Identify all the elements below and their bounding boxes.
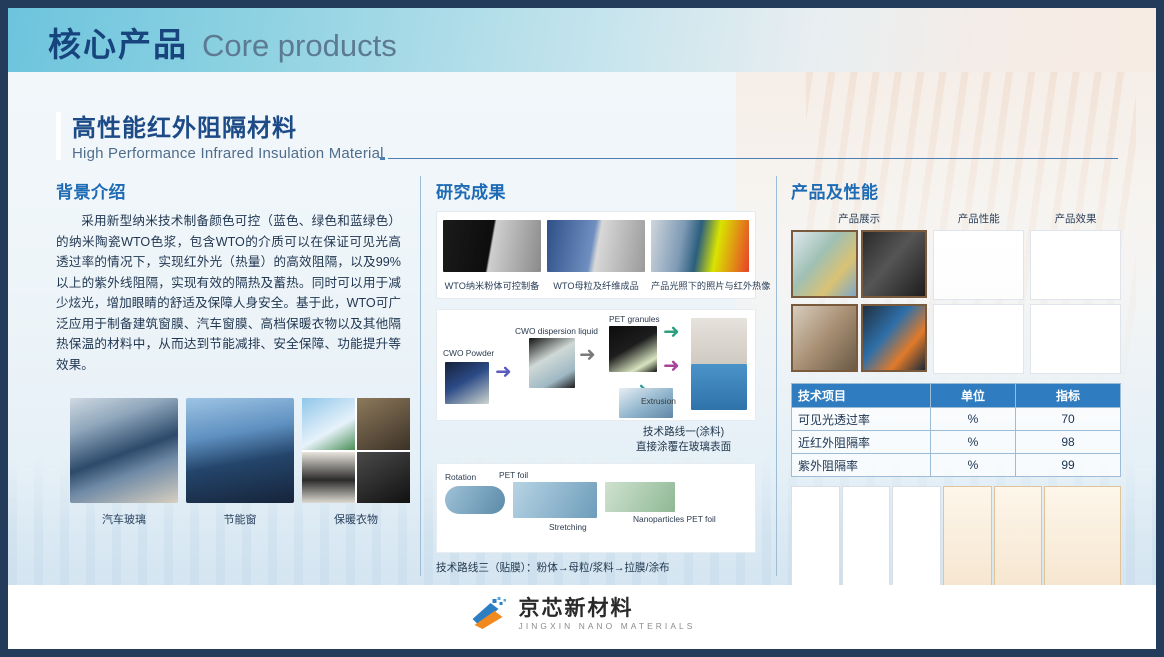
th-item: 技术项目: [792, 384, 931, 408]
table-row: 紫外阻隔率 % 99: [792, 454, 1121, 477]
product-sublabels: 产品展示 产品性能 产品效果: [791, 211, 1121, 226]
section-title-en: High Performance Infrared Insulation Mat…: [72, 145, 384, 162]
cell-unit: %: [931, 454, 1016, 477]
route1-label: 技术路线一(涂料): [643, 426, 724, 438]
column-background: 背景介绍 采用新型纳米技术制备颜色可控（蓝色、绿色和蓝绿色）的纳米陶瓷WTO色浆…: [56, 178, 401, 375]
photo-caption: 节能窗: [186, 511, 294, 527]
effect-chart-1: [1030, 230, 1121, 300]
flow-label-pet: PET granules: [609, 314, 660, 324]
cell-item: 近红外阻隔率: [792, 431, 931, 454]
section-accent-bar: [56, 112, 61, 160]
vials-image: [691, 318, 747, 364]
flow-label-extrusion: Extrusion: [641, 396, 676, 406]
table-row: 近红外阻隔率 % 98: [792, 431, 1121, 454]
photo-item: 汽车玻璃: [70, 398, 178, 527]
slide: 核心产品 Core products 高性能红外阻隔材料 High Perfor…: [0, 0, 1164, 657]
cell-value: 98: [1016, 431, 1121, 454]
flow-label-pet-foil: PET foil: [499, 470, 528, 480]
photo-caption: 汽车玻璃: [70, 511, 178, 527]
car-glass-image: [70, 398, 178, 503]
photo-item: 节能窗: [186, 398, 294, 527]
header-title-cn: 核心产品: [48, 18, 188, 66]
research-item: WTO纳米粉体可控制备: [443, 220, 541, 292]
cwo-powder-image: [445, 362, 489, 404]
film-sheet-image: [605, 482, 675, 512]
fiber-samples-image: [861, 230, 928, 298]
cell-unit: %: [931, 408, 1016, 431]
dispersion-liquid-image: [529, 338, 575, 388]
logo-text-en: JINGXIN NANO MATERIALS: [519, 621, 696, 631]
cell-value: 99: [1016, 454, 1121, 477]
energy-window-image: [186, 398, 294, 503]
flow-label-dispersion: CWO dispersion liquid: [515, 326, 598, 336]
th-unit: 单位: [931, 384, 1016, 408]
background-paragraph: 采用新型纳米技术制备颜色可控（蓝色、绿色和蓝绿色）的纳米陶瓷WTO色浆，包含WT…: [56, 211, 401, 375]
roller-image: [445, 486, 505, 514]
arrow-right-icon: ➜: [663, 322, 680, 342]
photo-item: 保暖衣物: [302, 398, 410, 527]
column-divider-1: [420, 176, 421, 576]
clothing-quadrant: [357, 398, 410, 450]
product-title: 产品及性能: [791, 178, 1121, 203]
research-caption: WTO母粒及纤维成品: [547, 278, 645, 292]
application-photos: 汽车玻璃 节能窗 保暖衣物: [70, 398, 410, 527]
research-results-card: WTO纳米粉体可控制备 WTO母粒及纤维成品 产品光照下的照片与红外热像: [436, 211, 756, 299]
header-band: 核心产品 Core products: [8, 8, 1156, 72]
product-display-grid: [791, 230, 927, 374]
research-item: WTO母粒及纤维成品: [547, 220, 645, 292]
clothing-quadrant: [302, 398, 355, 450]
research-title: 研究成果: [436, 178, 756, 203]
arrow-right-icon: ➜: [579, 345, 596, 365]
sublabel-effect: 产品效果: [1030, 211, 1121, 226]
background-title: 背景介绍: [56, 178, 401, 203]
test-setup-image: [791, 304, 858, 372]
cell-value: 70: [1016, 408, 1121, 431]
arrow-right-icon: ➜: [663, 356, 680, 376]
infrared-thermal-image: [651, 220, 749, 272]
flow-label-nanoparticles: Nanoparticles PET foil: [633, 514, 716, 524]
route1-sublabel: 直接涂覆在玻璃表面: [636, 441, 731, 453]
performance-chart-1: [933, 230, 1024, 300]
research-caption: WTO纳米粉体可控制备: [443, 278, 541, 292]
warm-clothing-image: [302, 398, 410, 503]
company-logo: 京芯新材料 JINGXIN NANO MATERIALS: [469, 597, 696, 631]
logo-text-cn: 京芯新材料: [519, 597, 696, 621]
column-divider-2: [776, 176, 777, 576]
section-rule: [388, 158, 1118, 159]
effect-chart-2: [1030, 304, 1121, 374]
route3-label: 技术路线三（贴膜）：粉体→母粒/浆料→拉膜/涂布: [436, 560, 756, 575]
product-samples-image: [791, 230, 858, 298]
column-product: 产品及性能 产品展示 产品性能 产品效果: [791, 178, 1121, 606]
cell-item: 紫外阻隔率: [792, 454, 931, 477]
logo-text: 京芯新材料 JINGXIN NANO MATERIALS: [519, 597, 696, 631]
cell-item: 可见光透过率: [792, 408, 931, 431]
wto-masterbatch-image: [547, 220, 645, 272]
research-caption: 产品光照下的照片与红外热像: [651, 278, 749, 292]
table-header-row: 技术项目 单位 指标: [792, 384, 1121, 408]
spec-table: 技术项目 单位 指标 可见光透过率 % 70 近红外阻隔率 % 98 紫外阻隔率: [791, 383, 1121, 477]
glass-coating-image: [691, 364, 747, 410]
footer: 京芯新材料 JINGXIN NANO MATERIALS: [8, 585, 1156, 649]
jingxin-logo-icon: [469, 597, 509, 631]
flow-label-powder: CWO Powder: [443, 348, 494, 358]
header-title-en: Core products: [202, 28, 397, 64]
section-title-cn: 高性能红外阻隔材料: [72, 108, 384, 143]
flow-label-rotation: Rotation: [445, 472, 476, 482]
sublabel-performance: 产品性能: [933, 211, 1024, 226]
research-item: 产品光照下的照片与红外热像: [651, 220, 749, 292]
column-research: 研究成果 WTO纳米粉体可控制备 WTO母粒及纤维成品 产品光照下的照片与红外热…: [436, 178, 756, 649]
clothing-quadrant: [357, 452, 410, 504]
flow-label-stretching: Stretching: [549, 522, 587, 532]
performance-chart-2: [933, 304, 1024, 374]
photo-caption: 保暖衣物: [302, 511, 410, 527]
slide-inner: 核心产品 Core products 高性能红外阻隔材料 High Perfor…: [8, 8, 1156, 649]
header-title-group: 核心产品 Core products: [48, 18, 397, 66]
thermal-camera-image: [861, 304, 928, 372]
cell-unit: %: [931, 431, 1016, 454]
sublabel-display: 产品展示: [791, 211, 927, 226]
rollers-image: [513, 482, 597, 518]
wto-powder-image: [443, 220, 541, 272]
film-process-diagram: Rotation PET foil Stretching Nanoparticl…: [436, 463, 756, 553]
process-flow-diagram: CWO Powder ➜ CWO dispersion liquid ➜ PET…: [436, 309, 756, 421]
clothing-quadrant: [302, 452, 355, 504]
th-value: 指标: [1016, 384, 1121, 408]
arrow-right-icon: ➜: [495, 362, 512, 382]
section-title-group: 高性能红外阻隔材料 High Performance Infrared Insu…: [56, 108, 384, 162]
table-row: 可见光透过率 % 70: [792, 408, 1121, 431]
pet-granules-image: [609, 326, 657, 372]
